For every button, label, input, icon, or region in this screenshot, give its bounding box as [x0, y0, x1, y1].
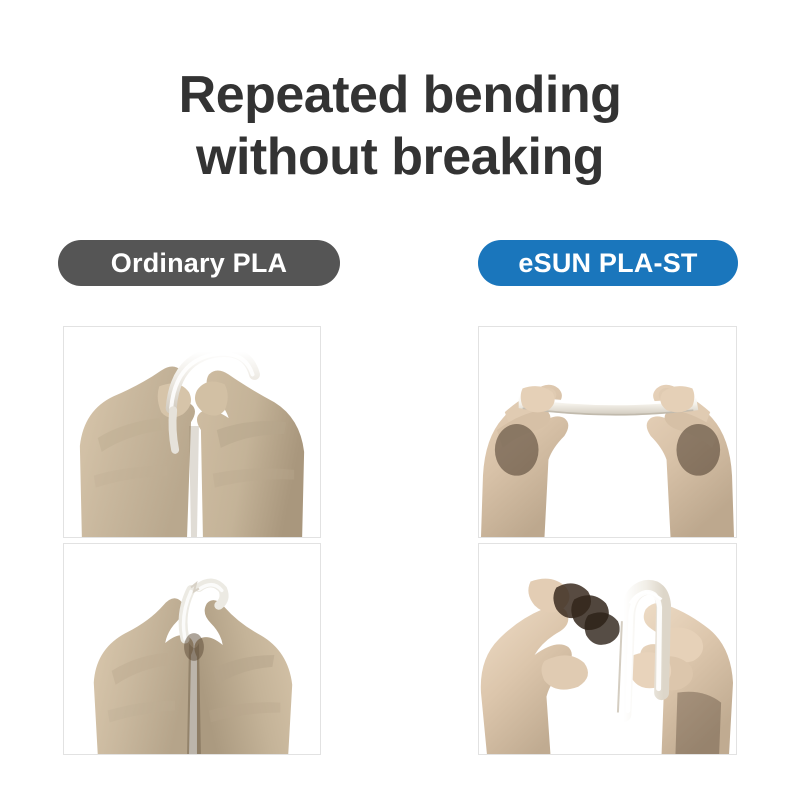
photo-esun-folded-illustration: [479, 544, 736, 754]
label-pill-ordinary-pla: Ordinary PLA: [58, 240, 340, 286]
photo-ordinary-bending: [63, 326, 321, 538]
label-pill-esun-pla-st-text: eSUN PLA-ST: [518, 248, 697, 279]
photo-ordinary-broken-illustration: [64, 544, 320, 754]
page-title: Repeated bending without breaking: [0, 64, 800, 188]
photo-ordinary-broken: [63, 543, 321, 755]
label-pill-esun-pla-st: eSUN PLA-ST: [478, 240, 738, 286]
photo-esun-straight: [478, 326, 737, 538]
label-pill-ordinary-pla-text: Ordinary PLA: [111, 248, 287, 279]
photo-ordinary-bending-illustration: [64, 327, 320, 537]
photo-esun-straight-illustration: [479, 327, 736, 537]
photo-esun-folded: [478, 543, 737, 755]
headline-line-2: without breaking: [0, 126, 800, 188]
headline-line-1: Repeated bending: [0, 64, 800, 126]
